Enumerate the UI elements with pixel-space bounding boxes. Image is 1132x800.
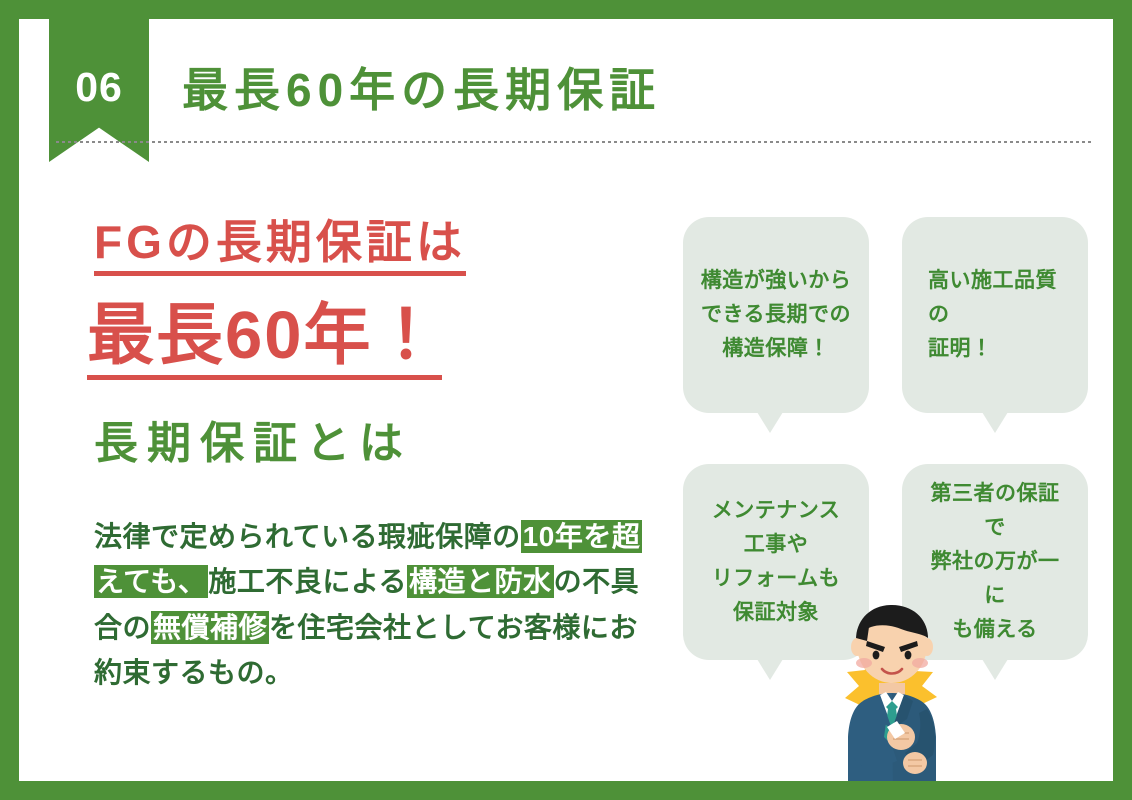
slide-page: 06 最長60年の長期保証 FGの長期保証は 最長60年！ 長期保証とは 法律で…	[19, 19, 1113, 781]
body-highlight-structure-waterproof: 構造と防水	[407, 565, 554, 598]
businessman-illustration	[797, 597, 987, 781]
body-segment-0: 法律で定められている瑕疵保障の	[94, 521, 521, 552]
headline-primary: FGの長期保証は	[94, 219, 466, 276]
bubble-construction-quality-text: 高い施工品質の 証明！	[928, 264, 1062, 366]
body-paragraph: 法律で定められている瑕疵保障の10年を超えても、施工不良による構造と防水の不具合…	[94, 514, 654, 695]
header-divider	[56, 141, 1092, 143]
headline-secondary: 最長60年！	[87, 302, 442, 380]
bubble-line: 高い施工品質の	[928, 264, 1062, 332]
bubble-line: 構造保障！	[697, 332, 855, 366]
slide-root: 06 最長60年の長期保証 FGの長期保証は 最長60年！ 長期保証とは 法律で…	[0, 0, 1132, 800]
headline-secondary-text: 最長60年！	[87, 302, 442, 380]
bubble-line: できる長期での	[697, 298, 855, 332]
bubble-line: メンテナンス	[697, 494, 855, 528]
bubble-line: 第三者の保証で	[920, 477, 1070, 545]
page-title: 最長60年の長期保証	[182, 67, 661, 113]
body-segment-2: 施工不良による	[208, 566, 407, 597]
bubble-structure-strength: 構造が強いから できる長期での 構造保障！	[683, 217, 869, 413]
section-number: 06	[49, 67, 149, 108]
headline-primary-text: FGの長期保証は	[94, 219, 466, 276]
bubble-line: リフォームも	[697, 562, 855, 596]
bubble-structure-strength-text: 構造が強いから できる長期での 構造保障！	[697, 264, 855, 366]
bubble-construction-quality: 高い施工品質の 証明！	[902, 217, 1088, 413]
body-highlight-free-repair: 無償補修	[151, 611, 269, 644]
subheading: 長期保証とは	[94, 422, 412, 466]
left-content-column: FGの長期保証は 最長60年！ 長期保証とは 法律で定められている瑕疵保障の10…	[19, 162, 659, 781]
bubble-line: 構造が強いから	[697, 264, 855, 298]
bubble-line: 証明！	[928, 332, 1062, 366]
bubble-line: 工事や	[697, 528, 855, 562]
